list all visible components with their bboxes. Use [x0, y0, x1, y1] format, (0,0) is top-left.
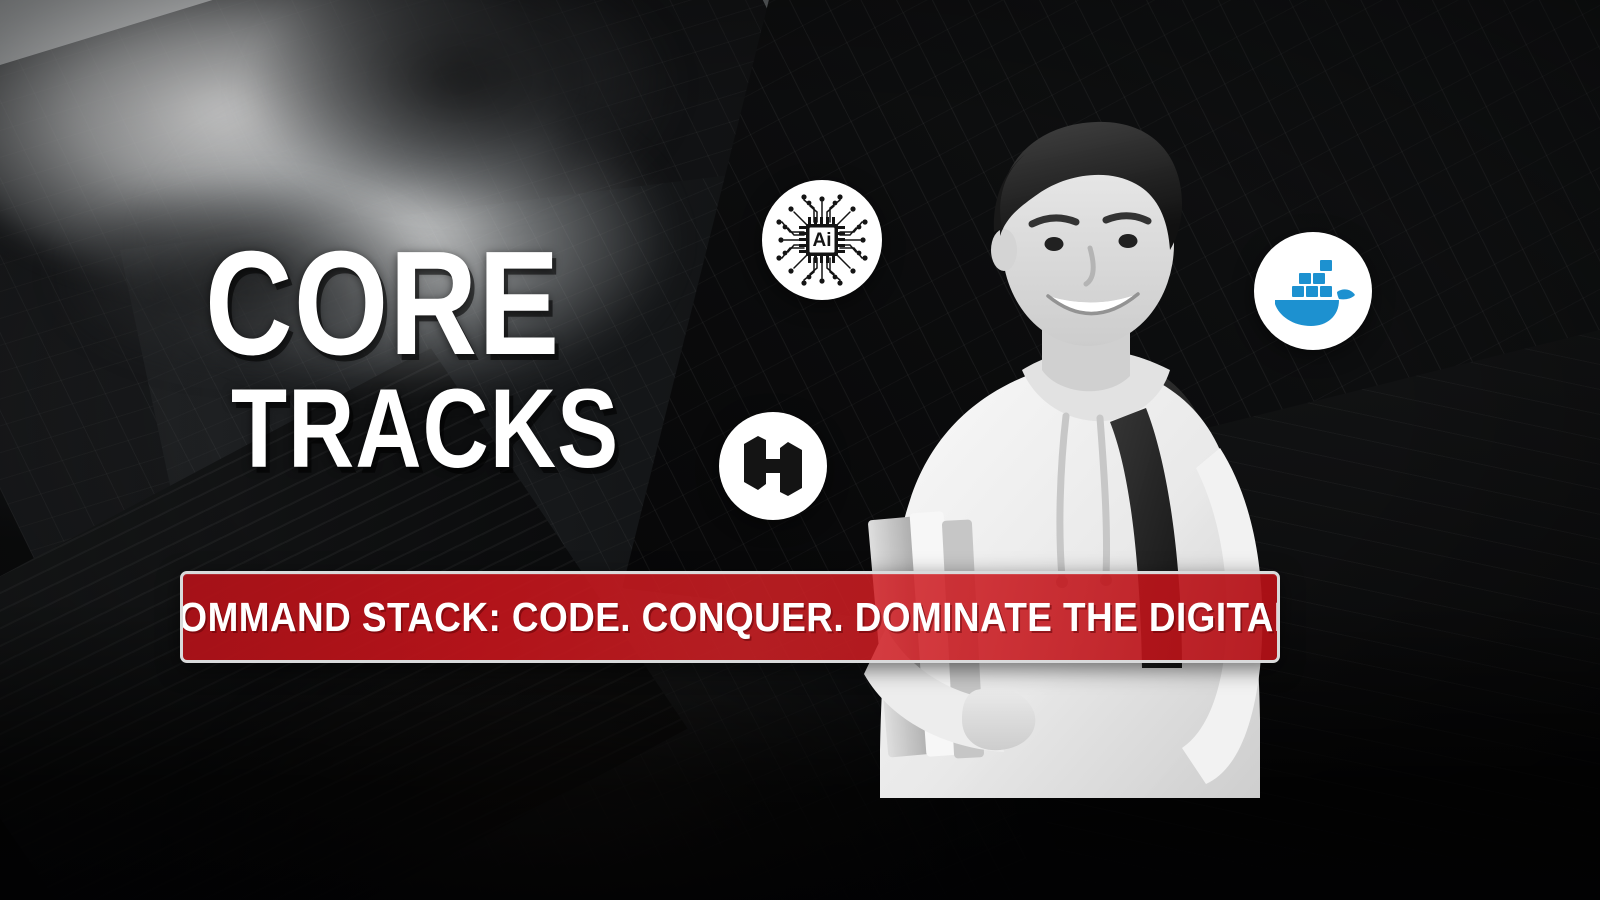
headline-line-core: CORE — [205, 242, 614, 366]
ai-chip-icon: Ai — [770, 188, 874, 292]
hashicorp-icon — [736, 426, 810, 506]
hashicorp-logo-badge — [719, 412, 827, 520]
ai-chip-label: Ai — [813, 230, 832, 251]
headline-line-tracks: TRACKS — [231, 382, 619, 476]
student-photo — [790, 108, 1390, 798]
tagline-text: COMMAND STACK: CODE. CONQUER. DOMINATE T… — [180, 594, 1280, 641]
docker-icon — [1267, 252, 1359, 330]
tagline-ribbon: COMMAND STACK: CODE. CONQUER. DOMINATE T… — [180, 571, 1280, 663]
promotional-banner: CORE TRACKS COMMAND STACK: CODE. CONQUER… — [0, 0, 1600, 900]
docker-logo-badge — [1254, 232, 1372, 350]
headline-block: CORE TRACKS — [205, 242, 704, 476]
ai-chip-logo-badge: Ai — [762, 180, 882, 300]
